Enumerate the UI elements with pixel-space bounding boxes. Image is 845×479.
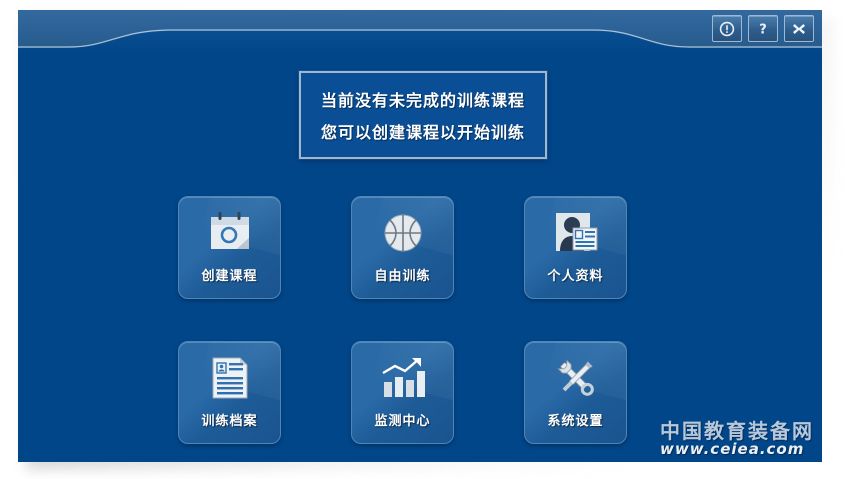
status-message-box: 当前没有未完成的训练课程 您可以创建课程以开始训练 xyxy=(299,71,547,159)
window-controls: ? xyxy=(712,15,814,42)
tile-label-free-training: 自由训练 xyxy=(374,265,430,284)
info-icon xyxy=(719,21,735,37)
tile-label-create-course: 创建课程 xyxy=(201,265,257,284)
document-icon xyxy=(203,353,257,403)
close-icon xyxy=(791,21,807,37)
info-button[interactable] xyxy=(712,15,742,42)
basketball-icon xyxy=(376,208,430,258)
watermark-url: www.ceiea.com xyxy=(660,442,814,458)
bar-chart-icon xyxy=(376,353,430,403)
main-menu-grid: 创建课程 自由训练 xyxy=(178,196,678,444)
tile-system-settings[interactable]: 系统设置 xyxy=(524,341,627,444)
help-button[interactable]: ? xyxy=(748,15,778,42)
tile-label-monitor-center: 监测中心 xyxy=(374,410,430,429)
tile-monitor-center[interactable]: 监测中心 xyxy=(351,341,454,444)
help-icon: ? xyxy=(755,21,771,37)
tile-create-course[interactable]: 创建课程 xyxy=(178,196,281,299)
tile-personal-info[interactable]: 个人资料 xyxy=(524,196,627,299)
calendar-icon xyxy=(203,208,257,258)
watermark-cn: 中国教育装备网 xyxy=(660,421,814,442)
tools-icon xyxy=(549,353,603,403)
message-line-1: 当前没有未完成的训练课程 xyxy=(321,87,525,111)
watermark: 中国教育装备网 www.ceiea.com xyxy=(660,421,814,458)
title-bar: ? xyxy=(18,10,822,54)
tile-training-record[interactable]: 训练档案 xyxy=(178,341,281,444)
message-line-2: 您可以创建课程以开始训练 xyxy=(321,119,525,143)
tile-label-training-record: 训练档案 xyxy=(201,410,257,429)
tile-label-system-settings: 系统设置 xyxy=(547,410,603,429)
id-card-icon xyxy=(549,208,603,258)
tile-label-personal-info: 个人资料 xyxy=(547,265,603,284)
svg-text:?: ? xyxy=(759,22,767,37)
tile-free-training[interactable]: 自由训练 xyxy=(351,196,454,299)
close-button[interactable] xyxy=(784,15,814,42)
app-root: ? 当前没有未完成的训练课程 您可以创建课程以开始训练 xyxy=(0,0,845,479)
application-window: ? 当前没有未完成的训练课程 您可以创建课程以开始训练 xyxy=(18,10,822,462)
